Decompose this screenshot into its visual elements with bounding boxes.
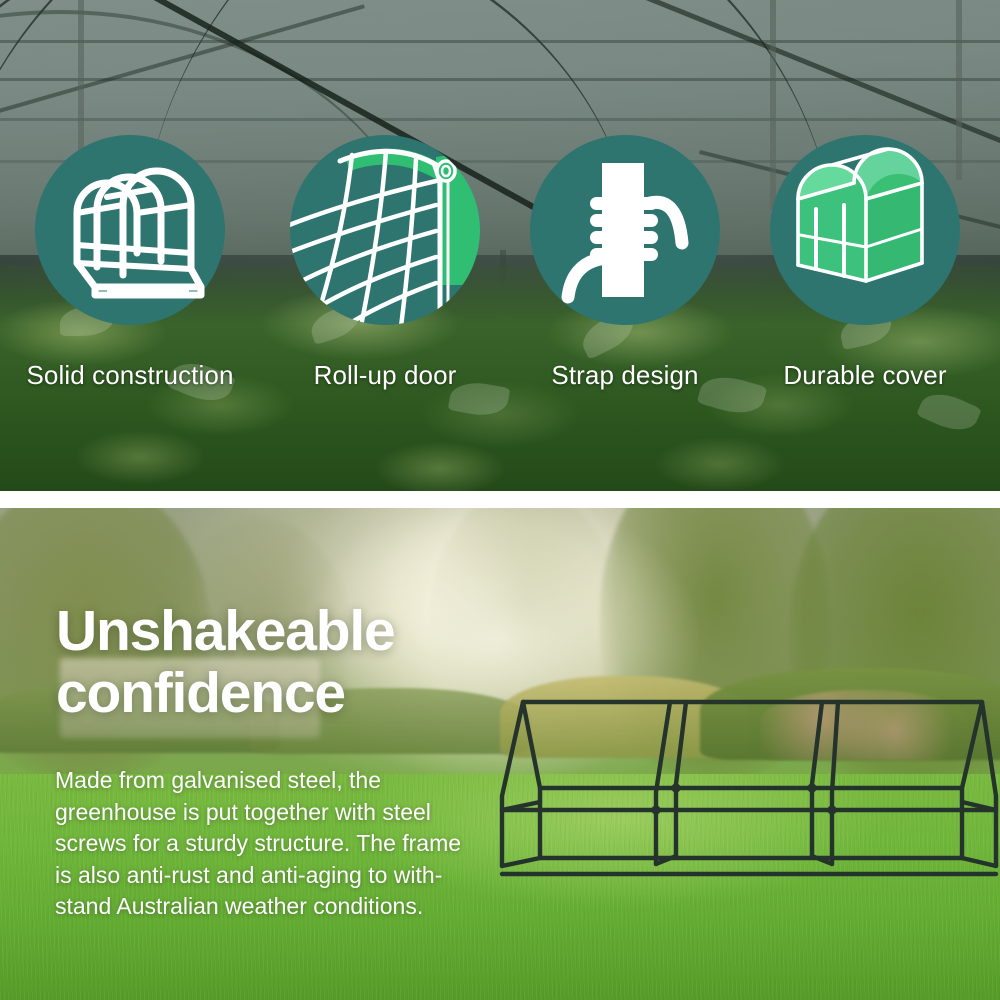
feature-label-strap-design: Strap design — [495, 360, 755, 391]
headline-line-2: confidence — [56, 662, 394, 724]
feature-label-durable-cover: Durable cover — [735, 360, 995, 391]
feature-circle-roll-up-door — [290, 135, 480, 325]
body-line-2: greenhouse is put together with steel — [55, 797, 475, 829]
top-feature-panel: Solid construction Roll-up door Strap de… — [0, 0, 1000, 491]
product-steel-frame — [490, 688, 1000, 888]
hero-body-copy: Made from galvanised steel, the greenhou… — [55, 765, 475, 923]
feature-circle-durable-cover — [770, 135, 960, 325]
hero-headline: Unshakeable confidence — [56, 600, 394, 724]
body-line-3: screws for a sturdy structure. The frame — [55, 828, 475, 860]
body-line-5: stand Australian weather conditions. — [55, 891, 475, 923]
body-line-1: Made from galvanised steel, the — [55, 765, 475, 797]
body-line-4: is also anti-rust and anti-aging to with… — [55, 860, 475, 892]
feature-circle-strap-design — [530, 135, 720, 325]
panel-divider — [0, 491, 1000, 508]
feature-label-solid-construction: Solid construction — [0, 360, 260, 391]
headline-line-1: Unshakeable — [56, 600, 394, 662]
bottom-hero-panel: Unshakeable confidence Made from galvani… — [0, 508, 1000, 1000]
feature-label-roll-up-door: Roll-up door — [255, 360, 515, 391]
product-marketing-image: Solid construction Roll-up door Strap de… — [0, 0, 1000, 1000]
feature-circle-solid-construction — [35, 135, 225, 325]
